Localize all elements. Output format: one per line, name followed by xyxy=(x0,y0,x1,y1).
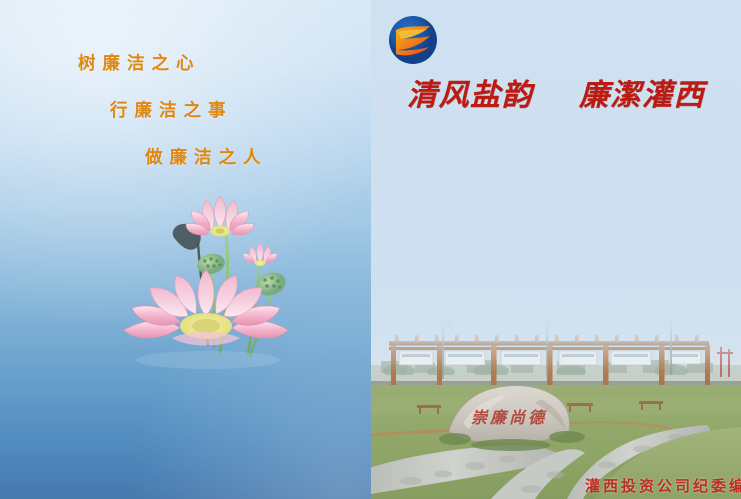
headline-part-1: 清风盐韵 xyxy=(407,78,533,113)
slogan-block: 树廉洁之心 行廉洁之事 做廉洁之人 xyxy=(0,50,371,169)
svg-text:崇廉尚德: 崇廉尚德 xyxy=(471,408,547,427)
front-cover-panel: 清风盐韵 廉潔灌西 廉 政 征 文 汇 编 xyxy=(371,0,741,499)
headline-part-2: 廉潔灌西 xyxy=(579,78,705,113)
cover-headline: 清风盐韵 廉潔灌西 xyxy=(371,70,741,114)
back-cover-panel: 树廉洁之心 行廉洁之事 做廉洁之人 xyxy=(0,0,371,499)
slogan-line-2: 行廉洁之事 xyxy=(0,97,371,122)
cover-spread: 树廉洁之心 行廉洁之事 做廉洁之人 xyxy=(0,0,741,499)
slogan-line-1: 树廉洁之心 xyxy=(0,50,371,75)
integrity-park-photo: 崇廉尚德 xyxy=(371,319,741,499)
slogan-line-3: 做廉洁之人 xyxy=(0,144,371,169)
publisher-credit: 灌西投资公司纪委编 xyxy=(585,475,741,496)
company-circle-logo-icon xyxy=(385,12,441,68)
lotus-artwork xyxy=(108,188,308,373)
